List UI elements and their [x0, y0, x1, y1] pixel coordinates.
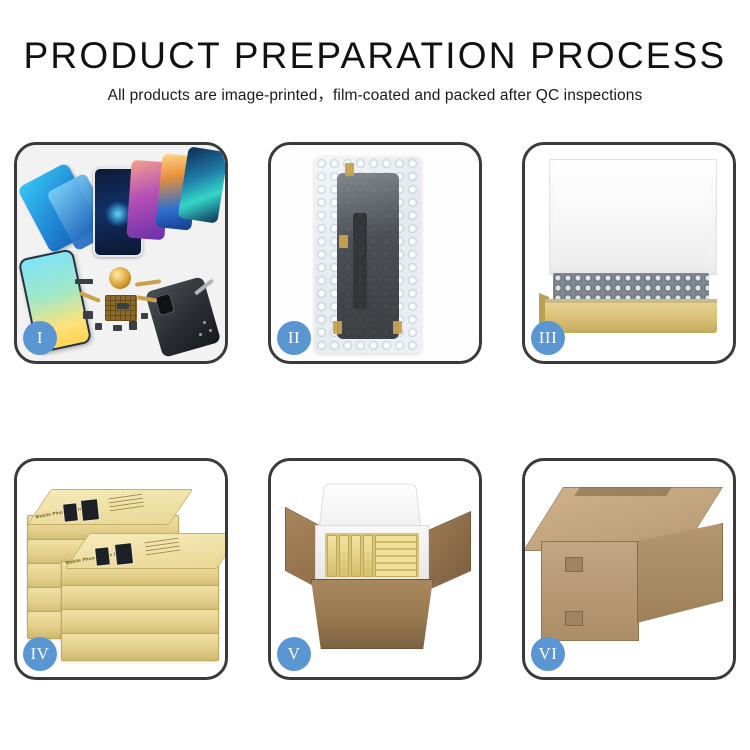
page-title: PRODUCT PREPARATION PROCESS [0, 34, 750, 78]
box-stack-icon: Mobile Phone Spare Parts Mobile Phone Sp… [23, 481, 223, 661]
process-step-panel-4: Mobile Phone Spare Parts Mobile Phone Sp… [14, 458, 228, 680]
step-badge-6: VI [531, 637, 565, 671]
stacked-box-icon [61, 633, 219, 661]
screw-icon [209, 329, 212, 332]
tape-piece-icon [339, 235, 348, 248]
carton-tape-seam-icon [574, 487, 672, 496]
step-badge-1: I [23, 321, 57, 355]
step-badge-4: IV [23, 637, 57, 671]
carton-front-face-icon [541, 541, 639, 641]
small-part-icon [83, 311, 93, 319]
white-foam-sheet-icon [555, 187, 709, 271]
kraft-box-base-icon [545, 299, 717, 333]
process-step-panel-2: II [268, 142, 482, 364]
step-badge-5: V [277, 637, 311, 671]
box-lid-phone-image [94, 546, 111, 566]
tape-piece-icon [345, 163, 354, 176]
carton-handle-tab-icon [565, 557, 583, 572]
small-part-icon [113, 325, 122, 331]
packed-yellow-boxes-icon [325, 533, 419, 577]
small-part-icon [75, 279, 93, 284]
step-badge-3: III [531, 321, 565, 355]
carton-handle-tab-icon [565, 611, 583, 626]
process-step-panel-5: V [268, 458, 482, 680]
process-step-panel-6: VI [522, 458, 736, 680]
page-subtitle: All products are image-printed，film-coat… [0, 86, 750, 106]
screw-icon [203, 321, 206, 324]
tape-piece-icon [393, 321, 402, 334]
page-header: PRODUCT PREPARATION PROCESS All products… [0, 34, 750, 106]
flex-cable-icon [135, 279, 161, 287]
gold-coil-part-icon [109, 267, 131, 289]
box-lid-phone-image [114, 542, 134, 566]
phone-back-housing-icon [145, 276, 221, 358]
box-lid-phone-image [80, 498, 100, 522]
wrapped-screen-icon [337, 173, 399, 339]
tape-piece-icon [333, 321, 342, 334]
box-lid-phone-image [62, 502, 79, 522]
small-part-icon [117, 303, 129, 309]
process-step-panel-3: III [522, 142, 736, 364]
bubble-wrapped-contents-icon [553, 273, 709, 301]
process-step-grid: I II III [14, 142, 736, 680]
small-part-icon [129, 321, 137, 330]
bubble-wrap-bag-icon [315, 157, 421, 353]
process-step-panel-1: I [14, 142, 228, 364]
screw-icon [199, 333, 202, 336]
step-badge-2: II [277, 321, 311, 355]
small-part-icon [141, 313, 148, 319]
carton-body-icon [311, 579, 433, 649]
small-part-icon [95, 323, 102, 330]
